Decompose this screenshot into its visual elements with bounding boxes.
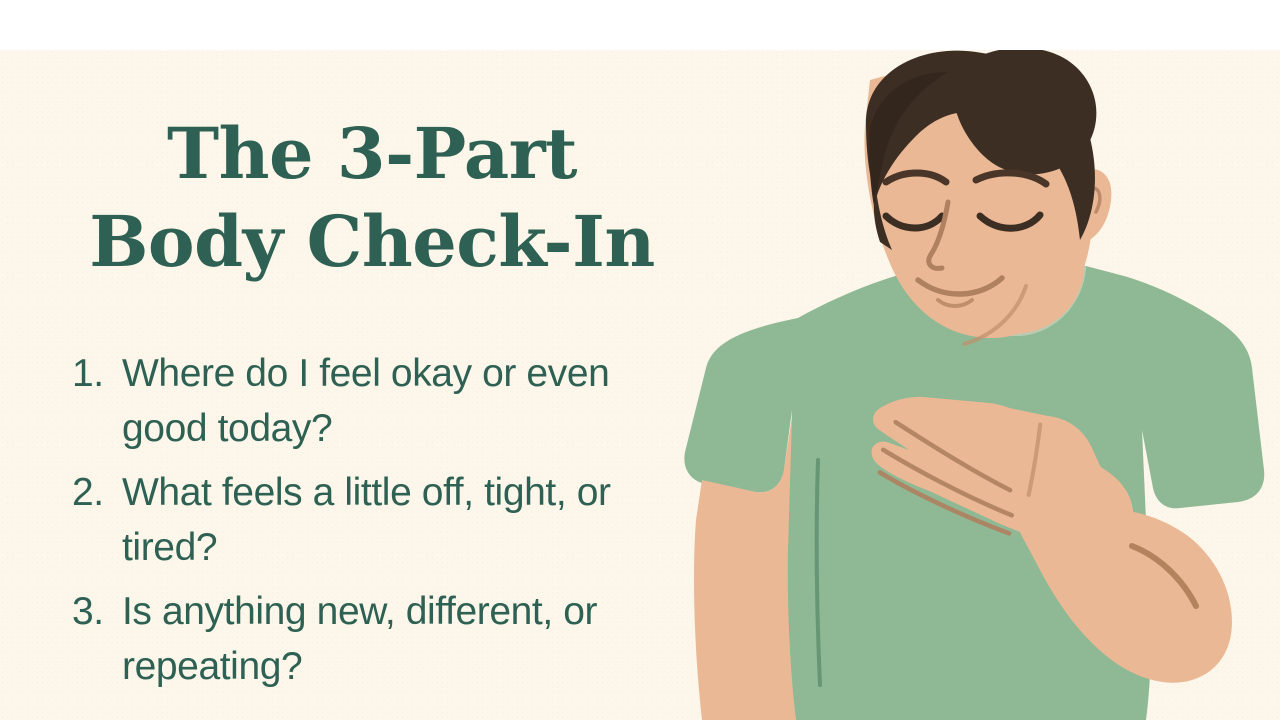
person-illustration xyxy=(680,50,1280,720)
page-title: The 3-Part Body Check-In xyxy=(72,110,672,286)
list-item: 1. Where do I feel okay or even good tod… xyxy=(72,346,672,457)
infographic-card: The 3-Part Body Check-In 1. Where do I f… xyxy=(0,0,1280,720)
list-item: 2. What feels a little off, tight, or ti… xyxy=(72,465,672,576)
list-item-number: 3. xyxy=(72,584,122,639)
list-item-label: Where do I feel okay or even good today? xyxy=(122,346,642,457)
list-item-number: 2. xyxy=(72,465,122,520)
text-column: The 3-Part Body Check-In 1. Where do I f… xyxy=(0,50,680,720)
list-item-label: What feels a little off, tight, or tired… xyxy=(122,465,642,576)
illustration-canvas: The 3-Part Body Check-In 1. Where do I f… xyxy=(0,50,1280,720)
checklist: 1. Where do I feel okay or even good tod… xyxy=(72,346,672,702)
list-item-number: 1. xyxy=(72,346,122,401)
list-item-label: Is anything new, different, or repeating… xyxy=(122,584,642,695)
top-white-band xyxy=(0,0,1280,50)
list-item: 3. Is anything new, different, or repeat… xyxy=(72,584,672,695)
